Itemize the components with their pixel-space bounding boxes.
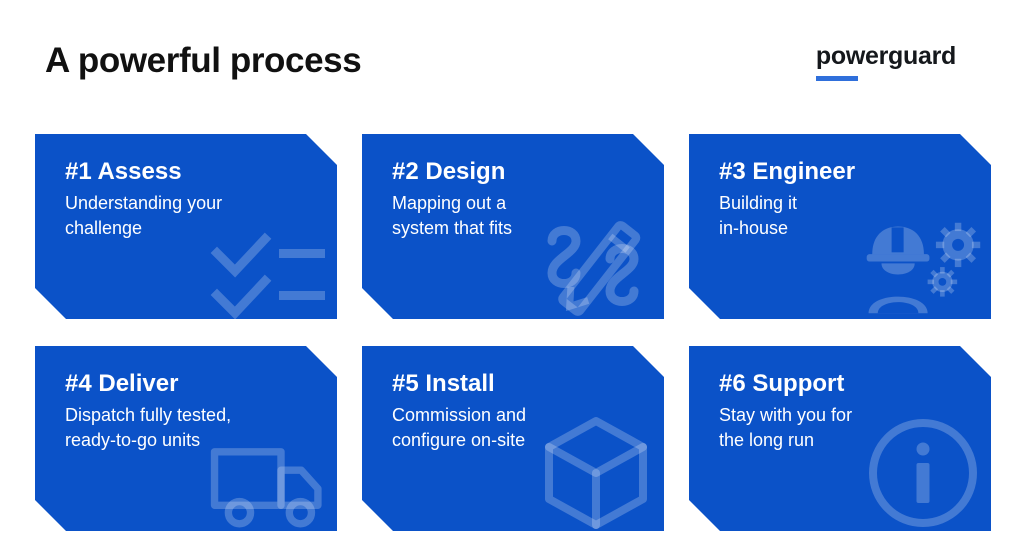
engineer-gears-icon (863, 213, 983, 319)
card-description: Building it in-house (719, 191, 797, 241)
card-description: Stay with you for the long run (719, 403, 852, 453)
card-title: #4 Deliver (65, 371, 178, 397)
process-card-2[interactable]: #2 Design Mapping out a system that fits (362, 134, 664, 319)
card-description: Dispatch fully tested, ready-to-go units (65, 403, 231, 453)
card-description: Understanding your challenge (65, 191, 222, 241)
card-description: Commission and configure on-site (392, 403, 526, 453)
info-circle-icon (863, 425, 983, 531)
card-title: #3 Engineer (719, 159, 855, 185)
process-card-grid: #1 Assess Understanding your challenge #… (35, 134, 991, 531)
brand-logo-text: powerguard (816, 44, 956, 69)
process-card-5[interactable]: #5 Install Commission and configure on-s… (362, 346, 664, 531)
pencil-ruler-icon (536, 213, 656, 319)
card-title: #1 Assess (65, 159, 182, 185)
card-title: #5 Install (392, 371, 495, 397)
card-description: Mapping out a system that fits (392, 191, 512, 241)
page-title: A powerful process (45, 42, 361, 81)
process-card-3[interactable]: #3 Engineer Building it in-house (689, 134, 991, 319)
slide-canvas: A powerful process powerguard #1 Assess … (0, 0, 1024, 559)
process-card-4[interactable]: #4 Deliver Dispatch fully tested, ready-… (35, 346, 337, 531)
process-card-6[interactable]: #6 Support Stay with you for the long ru… (689, 346, 991, 531)
brand-logo: powerguard (816, 44, 956, 81)
card-title: #2 Design (392, 159, 505, 185)
checklist-icon (209, 213, 329, 319)
brand-logo-underline (816, 76, 858, 81)
card-title: #6 Support (719, 371, 844, 397)
process-card-1[interactable]: #1 Assess Understanding your challenge (35, 134, 337, 319)
cube-box-icon (536, 425, 656, 531)
